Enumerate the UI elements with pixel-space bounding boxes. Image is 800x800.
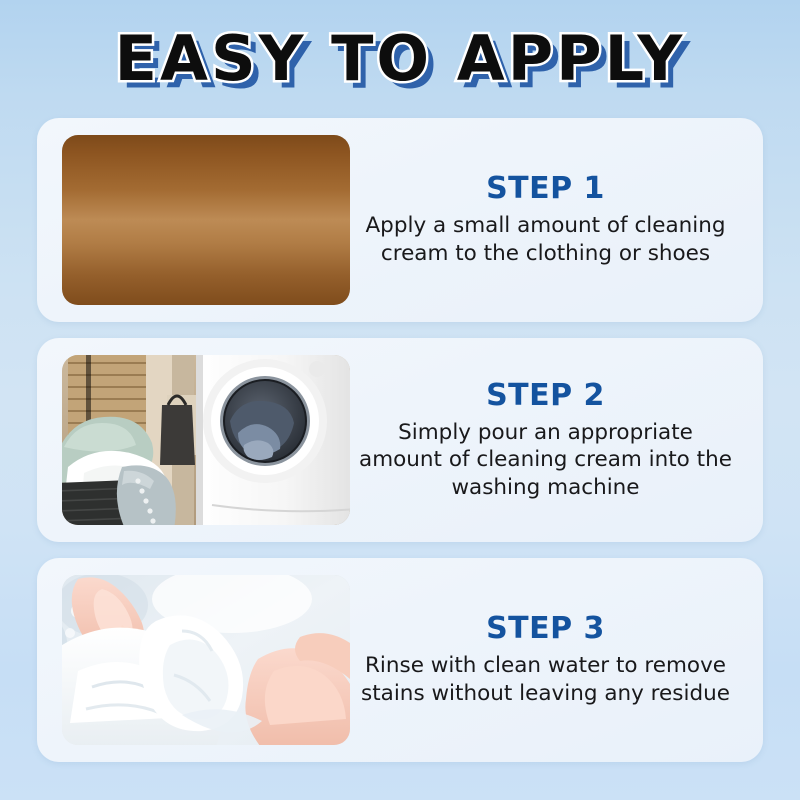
step-1-image [62,135,350,305]
step-1-text: STEP 1 Apply a small amount of cleaning … [350,172,745,267]
step-1-title: STEP 1 [358,172,733,205]
step-2-image [62,355,350,525]
page-title: EASY TO APPLY EASY TO APPLY [115,28,686,90]
step-2-title: STEP 2 [358,379,733,412]
washing-machine-laundry-image [62,355,350,525]
step-3-text: STEP 3 Rinse with clean water to remove … [350,612,745,707]
step-card-3: STEP 3 Rinse with clean water to remove … [37,558,763,762]
page-header: EASY TO APPLY EASY TO APPLY [0,0,800,118]
page-title-text: EASY TO APPLY [115,28,686,90]
cleaning-cream-swatch-image [62,135,350,305]
step-3-title: STEP 3 [358,612,733,645]
step-3-image [62,575,350,745]
step-card-1: STEP 1 Apply a small amount of cleaning … [37,118,763,322]
steps-list: STEP 1 Apply a small amount of cleaning … [0,118,800,762]
step-card-2: STEP 2 Simply pour an appropriate amount… [37,338,763,542]
step-2-description: Simply pour an appropriate amount of cle… [358,419,733,502]
step-2-text: STEP 2 Simply pour an appropriate amount… [350,379,745,502]
step-1-description: Apply a small amount of cleaning cream t… [358,212,733,267]
hands-rinsing-white-fabric-image [62,575,350,745]
step-3-description: Rinse with clean water to remove stains … [358,652,733,707]
